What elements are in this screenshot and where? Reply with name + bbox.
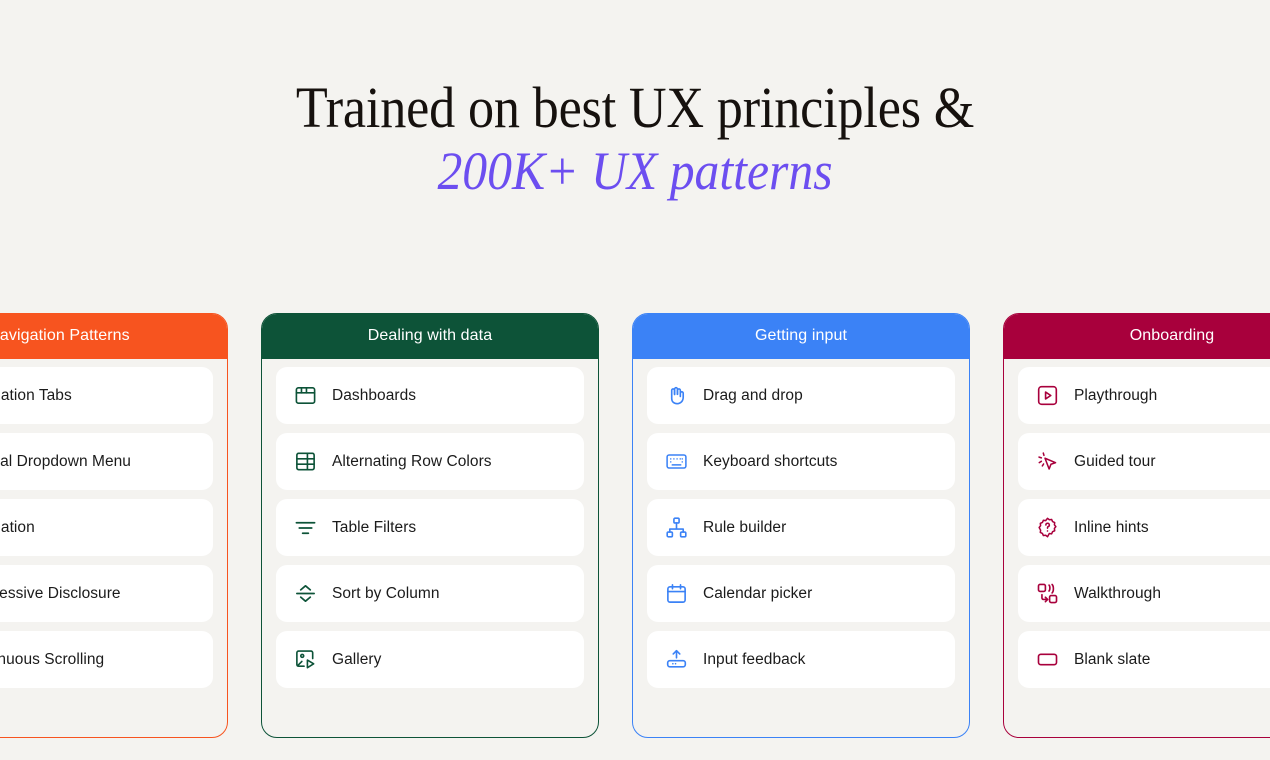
pattern-item-label: Dashboards (332, 387, 416, 405)
pattern-card-title: Getting input (633, 314, 969, 359)
pattern-item-label: Guided tour (1074, 453, 1156, 471)
blank-rect-icon (1036, 648, 1059, 671)
pattern-list-item[interactable]: Progressive Disclosure (0, 565, 213, 622)
pattern-list-item[interactable]: Inline hints (1018, 499, 1270, 556)
pattern-item-label: Drag and drop (703, 387, 803, 405)
pattern-list-item[interactable]: Alternating Row Colors (276, 433, 584, 490)
pattern-item-label: Inline hints (1074, 519, 1149, 537)
pattern-item-label: Continuous Scrolling (0, 651, 104, 669)
pattern-card-title: Dealing with data (262, 314, 598, 359)
cursor-sparkle-icon (1036, 450, 1059, 473)
pattern-card-title: Onboarding (1004, 314, 1270, 359)
pattern-card-title: Navigation Patterns (0, 314, 227, 359)
pattern-list-item[interactable]: Pagination (0, 499, 213, 556)
hand-grab-icon (665, 384, 688, 407)
headline-line-1: Trained on best UX principles & (64, 78, 1207, 137)
pattern-item-label: Calendar picker (703, 585, 812, 603)
pattern-list-item[interactable]: Playthrough (1018, 367, 1270, 424)
pattern-card-list: PlaythroughGuided tourInline hintsWalkth… (1004, 359, 1270, 737)
pattern-item-label: Keyboard shortcuts (703, 453, 837, 471)
filter-icon (294, 516, 317, 539)
input-upload-icon (665, 648, 688, 671)
pattern-list-item[interactable]: Guided tour (1018, 433, 1270, 490)
pattern-list-item[interactable]: Sort by Column (276, 565, 584, 622)
play-box-icon (1036, 384, 1059, 407)
pattern-list-item[interactable]: Blank slate (1018, 631, 1270, 688)
pattern-card-list: Drag and dropKeyboard shortcutsRule buil… (633, 359, 969, 737)
pattern-item-label: Pagination (0, 519, 35, 537)
pattern-cards-row: Navigation PatternsNavigation TabsVertic… (0, 313, 1270, 738)
pattern-item-label: Alternating Row Colors (332, 453, 492, 471)
pattern-card: Navigation PatternsNavigation TabsVertic… (0, 313, 228, 738)
table-grid-icon (294, 450, 317, 473)
pattern-card-list: Navigation TabsVertical Dropdown MenuPag… (0, 359, 227, 737)
pattern-card: Dealing with dataDashboardsAlternating R… (261, 313, 599, 738)
pattern-item-label: Table Filters (332, 519, 416, 537)
walkthrough-icon (1036, 582, 1059, 605)
calendar-icon (665, 582, 688, 605)
question-badge-icon (1036, 516, 1059, 539)
gallery-icon (294, 648, 317, 671)
pattern-list-item[interactable]: Table Filters (276, 499, 584, 556)
pattern-card: Getting inputDrag and dropKeyboard short… (632, 313, 970, 738)
sort-icon (294, 582, 317, 605)
pattern-list-item[interactable]: Keyboard shortcuts (647, 433, 955, 490)
pattern-list-item[interactable]: Input feedback (647, 631, 955, 688)
pattern-list-item[interactable]: Gallery (276, 631, 584, 688)
pattern-list-item[interactable]: Dashboards (276, 367, 584, 424)
pattern-list-item[interactable]: Drag and drop (647, 367, 955, 424)
pattern-list-item[interactable]: Continuous Scrolling (0, 631, 213, 688)
pattern-card: OnboardingPlaythroughGuided tourInline h… (1003, 313, 1270, 738)
pattern-item-label: Sort by Column (332, 585, 440, 603)
pattern-list-item[interactable]: Rule builder (647, 499, 955, 556)
pattern-list-item[interactable]: Navigation Tabs (0, 367, 213, 424)
pattern-item-label: Navigation Tabs (0, 387, 72, 405)
pattern-list-item[interactable]: Calendar picker (647, 565, 955, 622)
pattern-list-item[interactable]: Walkthrough (1018, 565, 1270, 622)
pattern-item-label: Playthrough (1074, 387, 1157, 405)
pattern-item-label: Rule builder (703, 519, 786, 537)
pattern-item-label: Progressive Disclosure (0, 585, 121, 603)
hierarchy-icon (665, 516, 688, 539)
pattern-item-label: Blank slate (1074, 651, 1150, 669)
pattern-item-label: Input feedback (703, 651, 805, 669)
keyboard-icon (665, 450, 688, 473)
pattern-card-list: DashboardsAlternating Row ColorsTable Fi… (262, 359, 598, 737)
pattern-item-label: Walkthrough (1074, 585, 1161, 603)
pattern-list-item[interactable]: Vertical Dropdown Menu (0, 433, 213, 490)
pattern-item-label: Gallery (332, 651, 381, 669)
page-headline: Trained on best UX principles & 200K+ UX… (0, 78, 1270, 199)
pattern-item-label: Vertical Dropdown Menu (0, 453, 131, 471)
dashboard-icon (294, 384, 317, 407)
headline-line-2: 200K+ UX patterns (51, 144, 1219, 199)
